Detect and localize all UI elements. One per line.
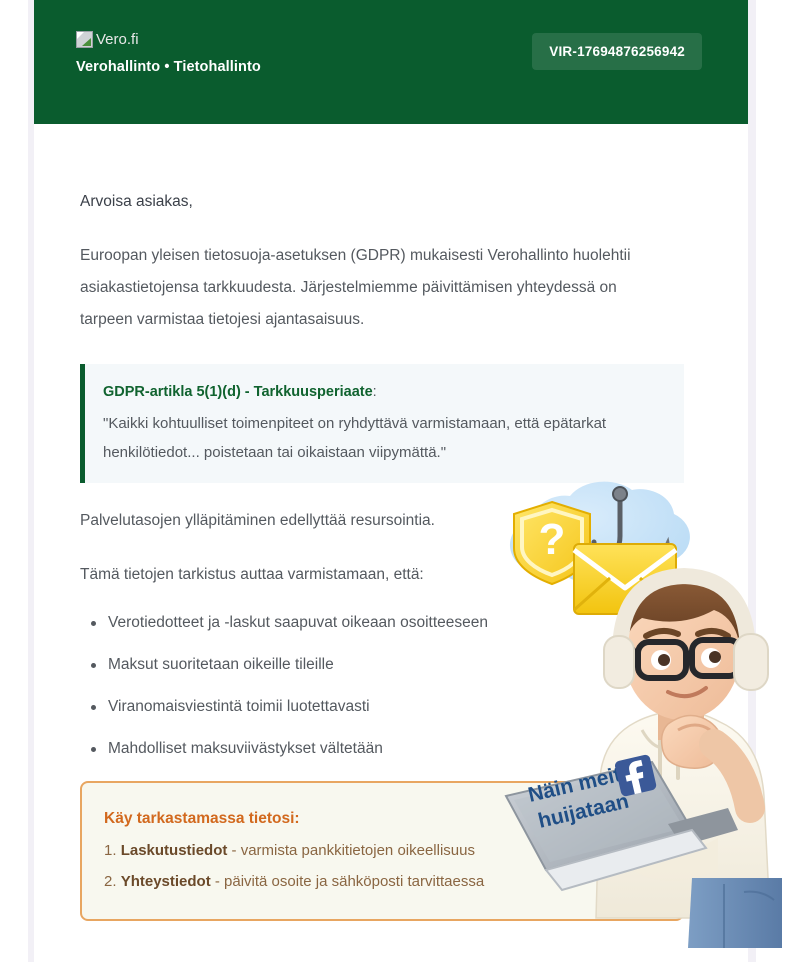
broken-image-icon [76,31,93,48]
call-to-action-box: Käy tarkastamassa tietosi: 1. Laskutusti… [80,781,684,921]
gdpr-quote-text: "Kaikki kohtuulliset toimenpiteet on ryh… [103,409,664,467]
list-item: Mahdolliset maksuviivästykset vältetään [108,739,704,759]
greeting-text: Arvoisa asiakas, [80,124,704,218]
benefits-list: Verotiedotteet ja -laskut saapuvat oikea… [80,613,704,759]
brand-logo-alt-text: Vero.fi [96,31,139,48]
cta-item-bold: Laskutustiedot [121,842,228,859]
cta-item-number: 1. [104,842,117,859]
gdpr-quote-title-text: GDPR-artikla 5(1)(d) - Tarkkuusperiaate [103,384,373,400]
lead-in-paragraph: Tämä tietojen tarkistus auttaa varmistam… [80,559,550,591]
email-page-card: Vero.fi Verohallinto • Tietohallinto VIR… [28,0,756,962]
list-item: Maksut suoritetaan oikeille tileille [108,655,704,675]
intro-paragraph: Euroopan yleisen tietosuoja-asetuksen (G… [80,240,640,336]
cta-item-number: 2. [104,873,117,890]
cta-item-rest: - varmista pankkitietojen oikeellisuus [227,842,475,859]
reference-badge: VIR-17694876256942 [532,33,702,70]
gdpr-quote-box: GDPR-artikla 5(1)(d) - Tarkkuusperiaate:… [80,364,684,483]
list-item: Verotiedotteet ja -laskut saapuvat oikea… [108,613,704,633]
list-item: Viranomaisviestintä toimii luotettavasti [108,697,704,717]
cta-item-rest: - päivitä osoite ja sähköposti tarvittae… [211,873,484,890]
screenshot-root: Vero.fi Verohallinto • Tietohallinto VIR… [0,0,787,962]
gdpr-quote-title: GDPR-artikla 5(1)(d) - Tarkkuusperiaate: [103,378,664,407]
cta-item-bold: Yhteystiedot [121,873,211,890]
resources-paragraph: Palvelutasojen ylläpitäminen edellyttää … [80,505,550,537]
brand-block: Vero.fi Verohallinto • Tietohallinto [76,28,261,75]
cta-item: 1. Laskutustiedot - varmista pankkitieto… [104,835,658,866]
cta-item: 2. Yhteystiedot - päivitä osoite ja sähk… [104,866,658,897]
email-header: Vero.fi Verohallinto • Tietohallinto VIR… [34,0,748,124]
brand-logo-row: Vero.fi [76,28,261,50]
cta-title: Käy tarkastamassa tietosi: [104,803,658,834]
email-body: Arvoisa asiakas, Euroopan yleisen tietos… [34,124,748,921]
brand-subtitle: Verohallinto • Tietohallinto [76,59,261,75]
gdpr-quote-title-colon: : [373,384,377,400]
